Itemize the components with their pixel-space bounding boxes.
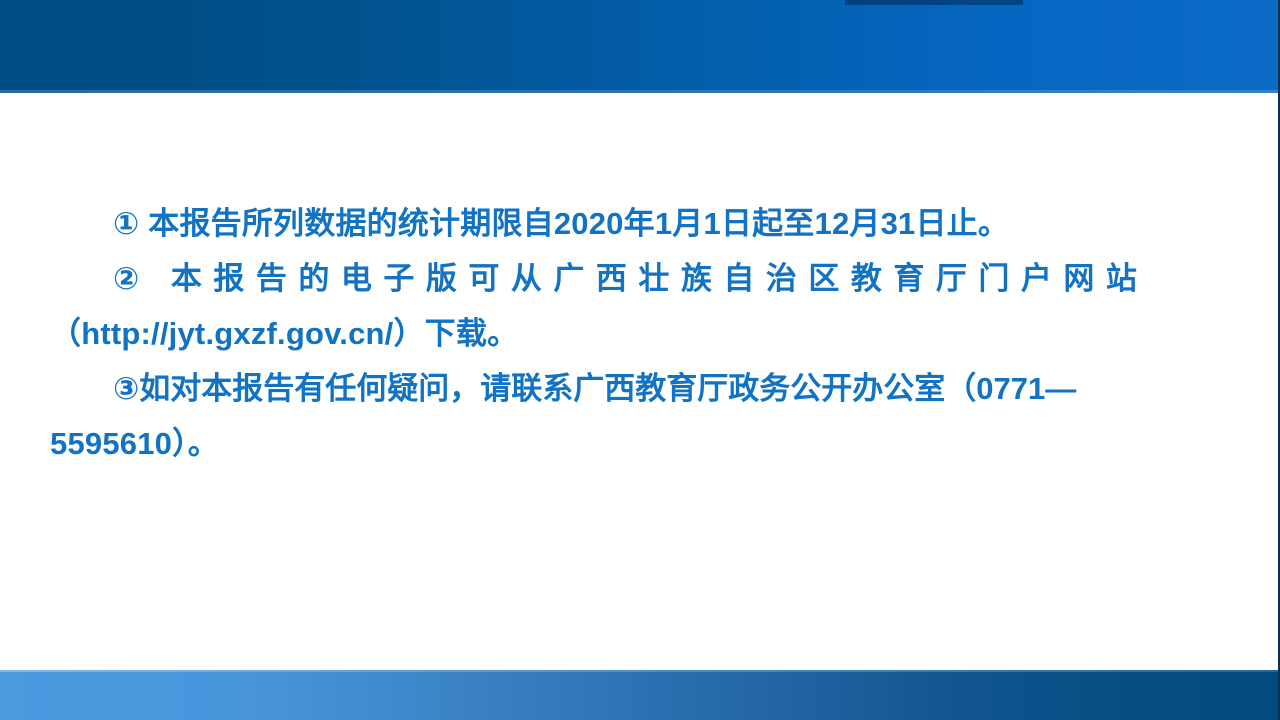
note-line-3-url: （http://jyt.gxzf.gov.cn/）下载。 <box>50 306 1238 361</box>
slide-canvas: ① 本报告所列数据的统计期限自2020年1月1日起至12月31日止。 ② 本报告… <box>0 0 1280 720</box>
note-line-2: ② 本报告的电子版可从广西壮族自治区教育厅门户网站 <box>50 251 1238 306</box>
bottom-banner-hairline <box>0 670 1280 672</box>
notes-content: ① 本报告所列数据的统计期限自2020年1月1日起至12月31日止。 ② 本报告… <box>50 196 1238 471</box>
note-line-5-phone: 5595610）。 <box>50 416 1238 471</box>
note-line-1: ① 本报告所列数据的统计期限自2020年1月1日起至12月31日止。 <box>50 196 1238 251</box>
top-banner-hairline <box>0 90 1280 93</box>
top-banner-accent-strip <box>845 0 1023 5</box>
note-line-4: ③如对本报告有任何疑问，请联系广西教育厅政务公开办公室（0771— <box>50 361 1238 416</box>
top-banner <box>0 0 1280 93</box>
bottom-banner <box>0 670 1280 720</box>
